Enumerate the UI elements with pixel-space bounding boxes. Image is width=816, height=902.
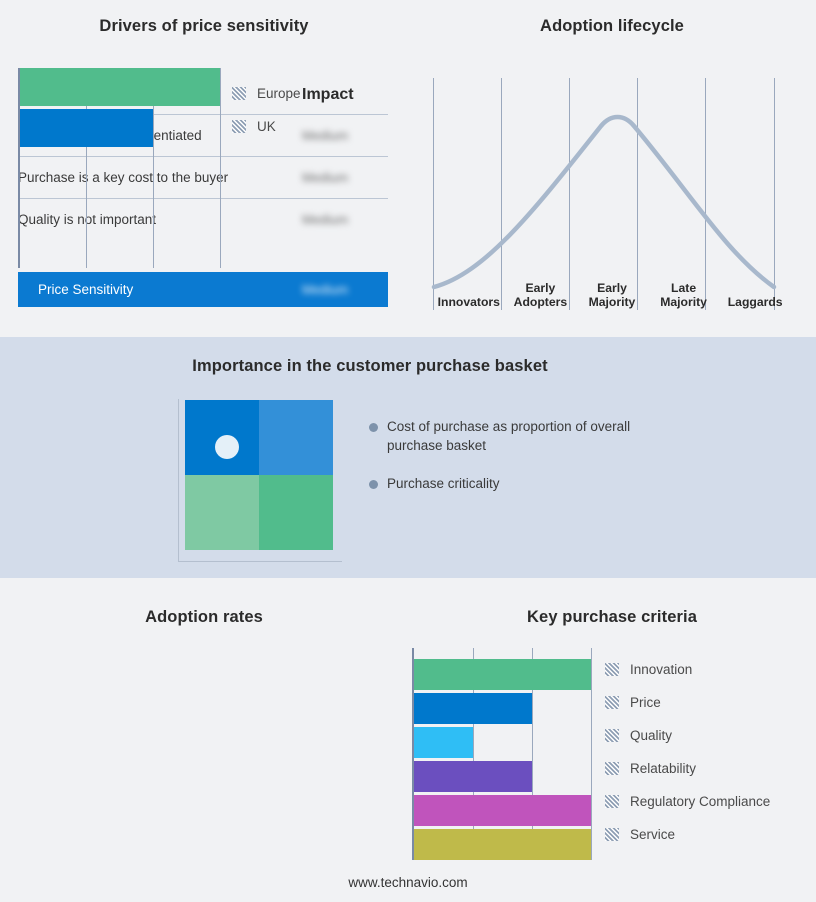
lifecycle-stage-label-line1: Late [648, 281, 720, 295]
bar-uk [20, 109, 153, 147]
bar-row-innovation [414, 659, 592, 690]
bar-row-price [414, 693, 592, 724]
bullet-icon [369, 423, 378, 432]
bar-row-service [414, 829, 592, 860]
lifecycle-stage-label: Laggards [719, 295, 791, 309]
matrix-axis-vertical [178, 399, 179, 562]
hatch-swatch-icon [605, 663, 619, 676]
bar-row-europe [20, 68, 221, 106]
legend-label: Purchase criticality [387, 475, 500, 494]
adoption-rates-legend: Europe UK [232, 86, 382, 152]
lifecycle-stage-label-line1: Early [576, 281, 648, 295]
key-purchase-criteria-title: Key purchase criteria [408, 608, 816, 627]
lifecycle-stage-early-majority: Early Majority [576, 270, 648, 312]
lifecycle-stage-label-line1: Early [505, 281, 577, 295]
legend-label: Quality [630, 728, 672, 743]
impact-value-redacted: Medium [302, 212, 388, 227]
hatch-swatch-icon [605, 762, 619, 775]
impact-value-redacted: Medium [302, 170, 388, 185]
legend-label: Regulatory Compliance [630, 794, 770, 809]
bullet-icon [369, 480, 378, 489]
price-sensitivity-summary-row: Price Sensitivity Medium [18, 272, 388, 307]
adoption-lifecycle-title: Adoption lifecycle [408, 17, 816, 36]
drivers-title: Drivers of price sensitivity [0, 17, 408, 36]
price-sensitivity-impact-redacted: Medium [302, 282, 388, 297]
key-purchase-criteria-chart [412, 648, 592, 860]
bar-row-quality [414, 727, 592, 758]
bar-price [414, 693, 532, 724]
hatch-swatch-icon [605, 696, 619, 709]
criteria-plot-area [412, 648, 592, 860]
legend-label: Service [630, 827, 675, 842]
importance-matrix [178, 399, 342, 562]
importance-title: Importance in the customer purchase bask… [0, 357, 740, 376]
hatch-swatch-icon [232, 87, 246, 100]
matrix-quadrants [185, 400, 333, 550]
bar-row-uk [20, 109, 221, 147]
legend-item: Regulatory Compliance [605, 794, 810, 809]
key-purchase-criteria-legend: Innovation Price Quality Relatability Re… [605, 662, 810, 860]
legend-item: Cost of purchase as proportion of overal… [369, 418, 669, 455]
lifecycle-stage-label-line2: Adopters [505, 295, 577, 309]
matrix-quadrant-top-right [259, 400, 333, 475]
legend-item: Quality [605, 728, 810, 743]
lifecycle-stage-labels: Innovators Early Adopters Early Majority… [433, 270, 791, 312]
legend-item: Price [605, 695, 810, 710]
adoption-rates-panel: Adoption rates [0, 578, 408, 902]
legend-item: Innovation [605, 662, 810, 677]
legend-label: Europe [257, 86, 301, 101]
adoption-bars [20, 68, 221, 147]
bell-curve-path [434, 117, 774, 287]
legend-item: Relatability [605, 761, 810, 776]
matrix-quadrant-bottom-left [185, 475, 259, 550]
bar-europe [20, 68, 220, 106]
lifecycle-stage-late-majority: Late Majority [648, 270, 720, 312]
importance-legend: Cost of purchase as proportion of overal… [369, 418, 669, 514]
hatch-swatch-icon [232, 120, 246, 133]
adoption-lifecycle-panel: Adoption lifecycle Innovators Early Adop… [408, 0, 816, 337]
legend-label: Cost of purchase as proportion of overal… [387, 418, 647, 455]
legend-label: Innovation [630, 662, 692, 677]
lifecycle-stage-label: Innovators [433, 295, 505, 309]
bar-row-relatability [414, 761, 592, 792]
price-sensitivity-label: Price Sensitivity [38, 282, 302, 297]
lifecycle-stage-early-adopters: Early Adopters [505, 270, 577, 312]
bar-relatability [414, 761, 532, 792]
legend-label: UK [257, 119, 276, 134]
matrix-position-marker-dot [215, 435, 239, 459]
adoption-plot-area [18, 68, 221, 268]
matrix-quadrant-bottom-right [259, 475, 333, 550]
legend-item: Service [605, 827, 810, 842]
lifecycle-stage-laggards: Laggards [719, 270, 791, 312]
matrix-axis-horizontal [178, 561, 342, 562]
bar-innovation [414, 659, 591, 690]
hatch-swatch-icon [605, 795, 619, 808]
adoption-rates-title: Adoption rates [0, 608, 408, 627]
footer-url: www.technavio.com [0, 875, 816, 890]
legend-item: Europe [232, 86, 382, 101]
lifecycle-stage-label-line2: Majority [576, 295, 648, 309]
bar-quality [414, 727, 473, 758]
lifecycle-stage-label-line2: Majority [648, 295, 720, 309]
bar-regulatory-compliance [414, 795, 591, 826]
legend-label: Price [630, 695, 661, 710]
criteria-bars [414, 648, 592, 860]
bar-service [414, 829, 591, 860]
hatch-swatch-icon [605, 828, 619, 841]
legend-item: UK [232, 119, 382, 134]
legend-label: Relatability [630, 761, 696, 776]
bar-row-regulatory-compliance [414, 795, 592, 826]
lifecycle-stage-innovators: Innovators [433, 270, 505, 312]
legend-item: Purchase criticality [369, 475, 669, 494]
hatch-swatch-icon [605, 729, 619, 742]
adoption-rates-chart [18, 68, 221, 268]
